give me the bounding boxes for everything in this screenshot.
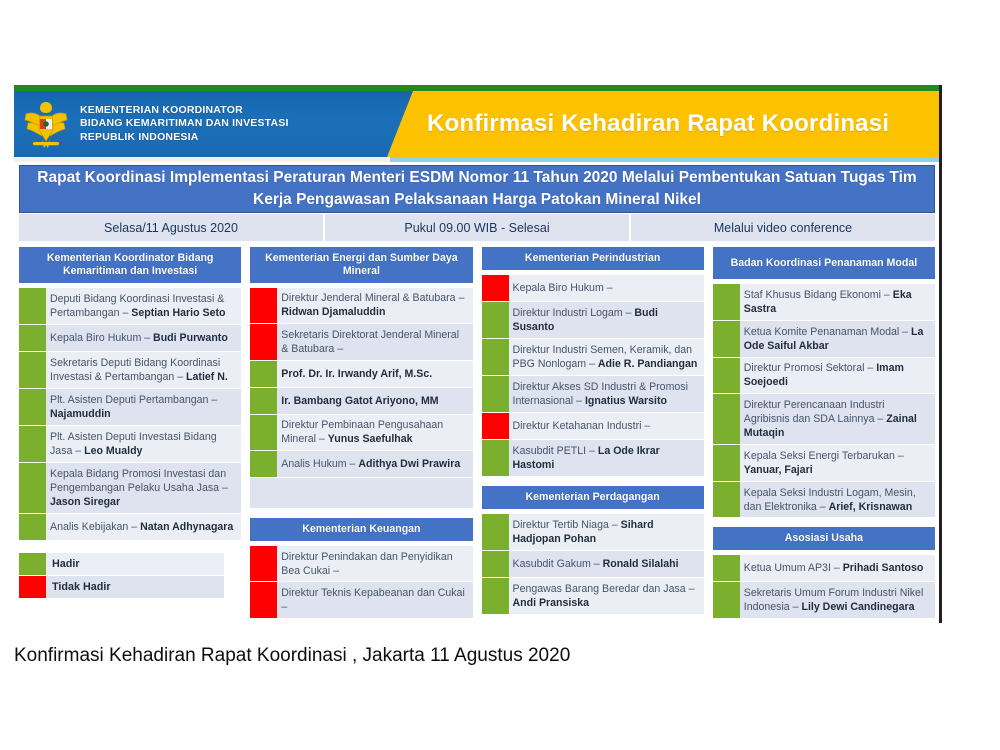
- attendee-text: Ketua Komite Penanaman Modal – La Ode Sa…: [744, 321, 935, 357]
- attendee-text: Sekretaris Deputi Bidang Koordinasi Inve…: [50, 352, 241, 388]
- meeting-subtitle-text: Rapat Koordinasi Implementasi Peraturan …: [20, 167, 934, 211]
- attendee-text: Direktur Penindakan dan Penyidikan Bea C…: [281, 546, 472, 582]
- attendee-role: Kepala Seksi Energi Terbarukan –: [744, 450, 904, 462]
- attendee-text: Direktur Perencanaan Industri Agribisnis…: [744, 394, 935, 444]
- status-present-swatch: [713, 284, 740, 320]
- attendance-row: Direktur Industri Semen, Keramik, dan PB…: [482, 339, 704, 375]
- attendee-text: Deputi Bidang Koordinasi Investasi & Per…: [50, 288, 241, 324]
- attendee-name: Latief N.: [186, 371, 228, 383]
- meeting-meta-cell: Selasa/11 Agustus 2020: [19, 214, 325, 241]
- attendance-row-empty: [250, 478, 472, 508]
- meeting-meta-row: Selasa/11 Agustus 2020Pukul 09.00 WIB - …: [19, 214, 935, 241]
- attendance-row: Direktur Jenderal Mineral & Batubara – R…: [250, 288, 472, 324]
- section-spacer: [482, 477, 704, 486]
- section-header: Kementerian Perindustrian: [482, 247, 704, 270]
- attendance-row: Ir. Bambang Gatot Ariyono, MM: [250, 388, 472, 414]
- status-absent-swatch: [250, 324, 277, 360]
- attendee-role: Kepala Biro Hukum –: [50, 332, 153, 344]
- ministry-line-3: REPUBLIK INDONESIA: [80, 131, 289, 145]
- section-header: Kementerian Keuangan: [250, 518, 472, 541]
- status-absent-swatch: [482, 275, 509, 301]
- attendance-row: Sekretaris Deputi Bidang Koordinasi Inve…: [19, 352, 241, 388]
- attendee-name: Ignatius Warsito: [585, 395, 667, 407]
- attendance-legend: HadirTidak Hadir: [19, 553, 224, 599]
- attendee-role: Direktur Perencanaan Industri Agribisnis…: [744, 399, 887, 425]
- attendance-row: Ketua Umum AP3I – Prihadi Santoso: [713, 555, 935, 581]
- status-present-swatch: [482, 376, 509, 412]
- attendee-text: Direktur Pembinaan Pengusahaan Mineral –…: [281, 414, 472, 450]
- attendance-row: Kepala Seksi Energi Terbarukan – Yanuar,…: [713, 445, 935, 481]
- attendance-row: Direktur Promosi Sektoral – Imam Soejoed…: [713, 358, 935, 394]
- status-present-swatch: [250, 451, 277, 477]
- attendee-text: Pengawas Barang Beredar dan Jasa – Andi …: [513, 578, 704, 614]
- ministry-name: KEMENTERIAN KOORDINATOR BIDANG KEMARITIM…: [80, 104, 289, 145]
- status-present-swatch: [482, 578, 509, 614]
- attendee-name: Natan Adhynagara: [140, 521, 233, 533]
- status-present-swatch: [250, 388, 277, 414]
- attendance-row: Direktur Akses SD Industri & Promosi Int…: [482, 376, 704, 412]
- attendee-role: Kasubdit PETLI –: [513, 445, 598, 457]
- attendee-text: Direktur Promosi Sektoral – Imam Soejoed…: [744, 357, 935, 393]
- attendee-name: Leo Mualdy: [84, 445, 142, 457]
- banner-title: Konfirmasi Kehadiran Rapat Koordinasi: [427, 110, 889, 138]
- attendee-name: Prof. Dr. Ir. Irwandy Arif, M.Sc.: [281, 368, 432, 380]
- attendee-name: Budi Purwanto: [153, 332, 228, 344]
- attendee-name: Yunus Saefulhak: [328, 433, 413, 445]
- attendee-role: Kepala Bidang Promosi Investasi dan Peng…: [50, 468, 228, 494]
- attendee-name: Prihadi Santoso: [843, 562, 924, 574]
- attendee-role: Analis Kebijakan –: [50, 521, 140, 533]
- status-present-swatch: [713, 358, 740, 394]
- attendee-name: Andi Pransiska: [513, 597, 590, 609]
- attendee-role: Analis Hukum –: [281, 458, 358, 470]
- attendee-text: Kepala Biro Hukum – Budi Purwanto: [50, 327, 241, 349]
- attendee-name: Adie R. Pandiangan: [598, 358, 697, 370]
- attendee-name: Ridwan Djamaluddin: [281, 306, 385, 318]
- attendee-role: Direktur Penindakan dan Penyidikan Bea C…: [281, 551, 452, 577]
- section-spacer: [713, 518, 935, 527]
- meeting-meta-cell: Pukul 09.00 WIB - Selesai: [325, 214, 631, 241]
- attendance-column: Kementerian Energi dan Sumber Daya Miner…: [250, 247, 472, 619]
- presentation-slide: KEMENTERIAN KOORDINATOR BIDANG KEMARITIM…: [14, 85, 942, 623]
- header-divider-left: [14, 157, 390, 162]
- status-absent-swatch: [250, 288, 277, 324]
- attendee-role: Staf Khusus Bidang Ekonomi –: [744, 289, 893, 301]
- header-ministry-block: KEMENTERIAN KOORDINATOR BIDANG KEMARITIM…: [14, 91, 289, 157]
- ministry-line-1: KEMENTERIAN KOORDINATOR: [80, 104, 289, 118]
- attendee-role: Sekretaris Direktorat Jenderal Mineral &…: [281, 329, 459, 355]
- status-present-swatch: [713, 582, 740, 618]
- attendance-row: Ketua Komite Penanaman Modal – La Ode Sa…: [713, 321, 935, 357]
- attendance-columns: Kementerian Koordinator Bidang Kemaritim…: [19, 247, 935, 619]
- attendance-row: Kepala Bidang Promosi Investasi dan Peng…: [19, 463, 241, 513]
- slide-header: KEMENTERIAN KOORDINATOR BIDANG KEMARITIM…: [14, 91, 939, 157]
- attendee-name: Septian Hario Seto: [131, 307, 225, 319]
- attendee-text: Plt. Asisten Deputi Pertambangan – Najam…: [50, 389, 241, 425]
- status-present-swatch: [713, 555, 740, 581]
- status-present-swatch: [19, 514, 46, 540]
- attendee-name: Adithya Dwi Prawira: [358, 458, 460, 470]
- banner-yellow-band: Konfirmasi Kehadiran Rapat Koordinasi: [387, 91, 939, 157]
- attendee-text: Direktur Jenderal Mineral & Batubara – R…: [281, 287, 472, 323]
- attendance-row: Sekretaris Direktorat Jenderal Mineral &…: [250, 324, 472, 360]
- status-present-swatch: [482, 302, 509, 338]
- attendee-role: Direktur Jenderal Mineral & Batubara –: [281, 292, 464, 304]
- section-header: Badan Koordinasi Penanaman Modal: [713, 247, 935, 279]
- attendee-name: Ronald Silalahi: [603, 558, 679, 570]
- attendee-text: Analis Kebijakan – Natan Adhynagara: [50, 516, 241, 538]
- status-present-swatch: [482, 514, 509, 550]
- status-present-swatch: [482, 440, 509, 476]
- status-present-swatch: [482, 551, 509, 577]
- attendee-name: Najamuddin: [50, 408, 111, 420]
- attendee-role: Direktur Tertib Niaga –: [513, 519, 621, 531]
- attendance-row: Direktur Ketahanan Industri –: [482, 413, 704, 439]
- attendance-column: Kementerian PerindustrianKepala Biro Huk…: [482, 247, 704, 619]
- attendee-text: Kepala Seksi Industri Logam, Mesin, dan …: [744, 482, 935, 518]
- attendance-row: Prof. Dr. Ir. Irwandy Arif, M.Sc.: [250, 361, 472, 387]
- attendance-row: Analis Kebijakan – Natan Adhynagara: [19, 514, 241, 540]
- legend-present-swatch: [19, 553, 46, 575]
- status-present-swatch: [19, 325, 46, 351]
- status-present-swatch: [713, 445, 740, 481]
- garuda-pancasila-emblem-icon: [20, 96, 72, 152]
- attendee-role: Ketua Komite Penanaman Modal –: [744, 326, 911, 338]
- attendee-name: Yanuar, Fajari: [744, 464, 813, 476]
- section-header: Asosiasi Usaha: [713, 527, 935, 550]
- status-present-swatch: [19, 463, 46, 513]
- attendance-row: Kepala Biro Hukum –: [482, 275, 704, 301]
- attendee-text: Kasubdit Gakum – Ronald Silalahi: [513, 553, 704, 575]
- attendee-text: Prof. Dr. Ir. Irwandy Arif, M.Sc.: [281, 363, 472, 385]
- attendee-role: Direktur Teknis Kepabeanan dan Cukai –: [281, 587, 465, 613]
- attendee-text: Sekretaris Direktorat Jenderal Mineral &…: [281, 324, 472, 360]
- attendance-row: Pengawas Barang Beredar dan Jasa – Andi …: [482, 578, 704, 614]
- ministry-line-2: BIDANG KEMARITIMAN DAN INVESTASI: [80, 117, 289, 131]
- status-present-swatch: [713, 482, 740, 518]
- legend-label: Tidak Hadir: [50, 576, 224, 598]
- status-absent-swatch: [482, 413, 509, 439]
- attendee-text: Kepala Biro Hukum –: [513, 277, 704, 299]
- attendee-role: Direktur Ketahanan Industri –: [513, 420, 651, 432]
- status-absent-swatch: [250, 546, 277, 582]
- attendee-role: Direktur Promosi Sektoral –: [744, 362, 876, 374]
- attendance-row: Kasubdit PETLI – La Ode Ikrar Hastomi: [482, 440, 704, 476]
- attendee-text: Direktur Ketahanan Industri –: [513, 415, 704, 437]
- legend-row: Tidak Hadir: [19, 576, 224, 598]
- attendee-text: Direktur Tertib Niaga – Sihard Hadjopan …: [513, 514, 704, 550]
- attendee-name: Arief, Krisnawan: [829, 501, 913, 513]
- attendance-row: Kepala Biro Hukum – Budi Purwanto: [19, 325, 241, 351]
- status-present-swatch: [19, 426, 46, 462]
- attendance-row: Direktur Teknis Kepabeanan dan Cukai –: [250, 582, 472, 618]
- attendance-row: Plt. Asisten Deputi Investasi Bidang Jas…: [19, 426, 241, 462]
- attendance-row: Plt. Asisten Deputi Pertambangan – Najam…: [19, 389, 241, 425]
- attendee-text: Analis Hukum – Adithya Dwi Prawira: [281, 453, 472, 475]
- attendee-text: Direktur Teknis Kepabeanan dan Cukai –: [281, 582, 472, 618]
- attendee-role: Kasubdit Gakum –: [513, 558, 603, 570]
- attendee-text: Kepala Seksi Energi Terbarukan – Yanuar,…: [744, 445, 935, 481]
- status-none-swatch: [250, 478, 277, 508]
- section-header: Kementerian Energi dan Sumber Daya Miner…: [250, 247, 472, 283]
- status-present-swatch: [713, 321, 740, 357]
- attendee-role: Direktur Industri Logam –: [513, 307, 635, 319]
- status-present-swatch: [19, 352, 46, 388]
- attendee-text: Kepala Bidang Promosi Investasi dan Peng…: [50, 463, 241, 513]
- meeting-meta-cell: Melalui video conference: [631, 214, 935, 241]
- attendee-name: Lily Dewi Candinegara: [801, 601, 914, 613]
- legend-row: Hadir: [19, 553, 224, 575]
- attendance-row: Direktur Industri Logam – Budi Susanto: [482, 302, 704, 338]
- attendance-column: Kementerian Koordinator Bidang Kemaritim…: [19, 247, 241, 619]
- attendee-text: Staf Khusus Bidang Ekonomi – Eka Sastra: [744, 284, 935, 320]
- attendee-text: Kasubdit PETLI – La Ode Ikrar Hastomi: [513, 440, 704, 476]
- legend-absent-swatch: [19, 576, 46, 598]
- status-present-swatch: [19, 389, 46, 425]
- section-header: Kementerian Koordinator Bidang Kemaritim…: [19, 247, 241, 283]
- attendance-row: Direktur Perencanaan Industri Agribisnis…: [713, 394, 935, 444]
- attendee-name: Jason Siregar: [50, 496, 120, 508]
- attendance-row: Direktur Penindakan dan Penyidikan Bea C…: [250, 546, 472, 582]
- status-present-swatch: [250, 415, 277, 451]
- attendee-text: Ir. Bambang Gatot Ariyono, MM: [281, 390, 472, 412]
- attendee-text: Plt. Asisten Deputi Investasi Bidang Jas…: [50, 426, 241, 462]
- attendance-column: Badan Koordinasi Penanaman ModalStaf Khu…: [713, 247, 935, 619]
- attendee-role: Kepala Biro Hukum –: [513, 282, 613, 294]
- attendee-text: Sekretaris Umum Forum Industri Nikel Ind…: [744, 582, 935, 618]
- attendance-row: Analis Hukum – Adithya Dwi Prawira: [250, 451, 472, 477]
- attendance-row: Deputi Bidang Koordinasi Investasi & Per…: [19, 288, 241, 324]
- attendance-row: Sekretaris Umum Forum Industri Nikel Ind…: [713, 582, 935, 618]
- status-present-swatch: [713, 394, 740, 444]
- attendance-row: Kepala Seksi Industri Logam, Mesin, dan …: [713, 482, 935, 518]
- attendance-row: Direktur Tertib Niaga – Sihard Hadjopan …: [482, 514, 704, 550]
- attendee-role: Plt. Asisten Deputi Pertambangan –: [50, 394, 217, 406]
- meeting-subtitle-bar: Rapat Koordinasi Implementasi Peraturan …: [19, 165, 935, 213]
- attendee-text: Ketua Umum AP3I – Prihadi Santoso: [744, 557, 935, 579]
- attendee-text: Direktur Akses SD Industri & Promosi Int…: [513, 376, 704, 412]
- attendee-text: [281, 489, 472, 497]
- status-present-swatch: [19, 288, 46, 324]
- attendee-name: Ir. Bambang Gatot Ariyono, MM: [281, 395, 438, 407]
- attendee-text: Direktur Industri Semen, Keramik, dan PB…: [513, 339, 704, 375]
- section-spacer: [250, 509, 472, 518]
- attendance-row: Staf Khusus Bidang Ekonomi – Eka Sastra: [713, 284, 935, 320]
- status-absent-swatch: [250, 582, 277, 618]
- attendance-row: Direktur Pembinaan Pengusahaan Mineral –…: [250, 415, 472, 451]
- attendee-role: Pengawas Barang Beredar dan Jasa –: [513, 583, 695, 595]
- attendance-row: Kasubdit Gakum – Ronald Silalahi: [482, 551, 704, 577]
- status-present-swatch: [250, 361, 277, 387]
- header-divider-stripe: [14, 157, 939, 162]
- attendee-role: Ketua Umum AP3I –: [744, 562, 843, 574]
- section-header: Kementerian Perdagangan: [482, 486, 704, 509]
- status-present-swatch: [482, 339, 509, 375]
- legend-label: Hadir: [50, 553, 224, 575]
- slide-caption: Konfirmasi Kehadiran Rapat Koordinasi , …: [14, 645, 570, 667]
- attendee-text: Direktur Industri Logam – Budi Susanto: [513, 302, 704, 338]
